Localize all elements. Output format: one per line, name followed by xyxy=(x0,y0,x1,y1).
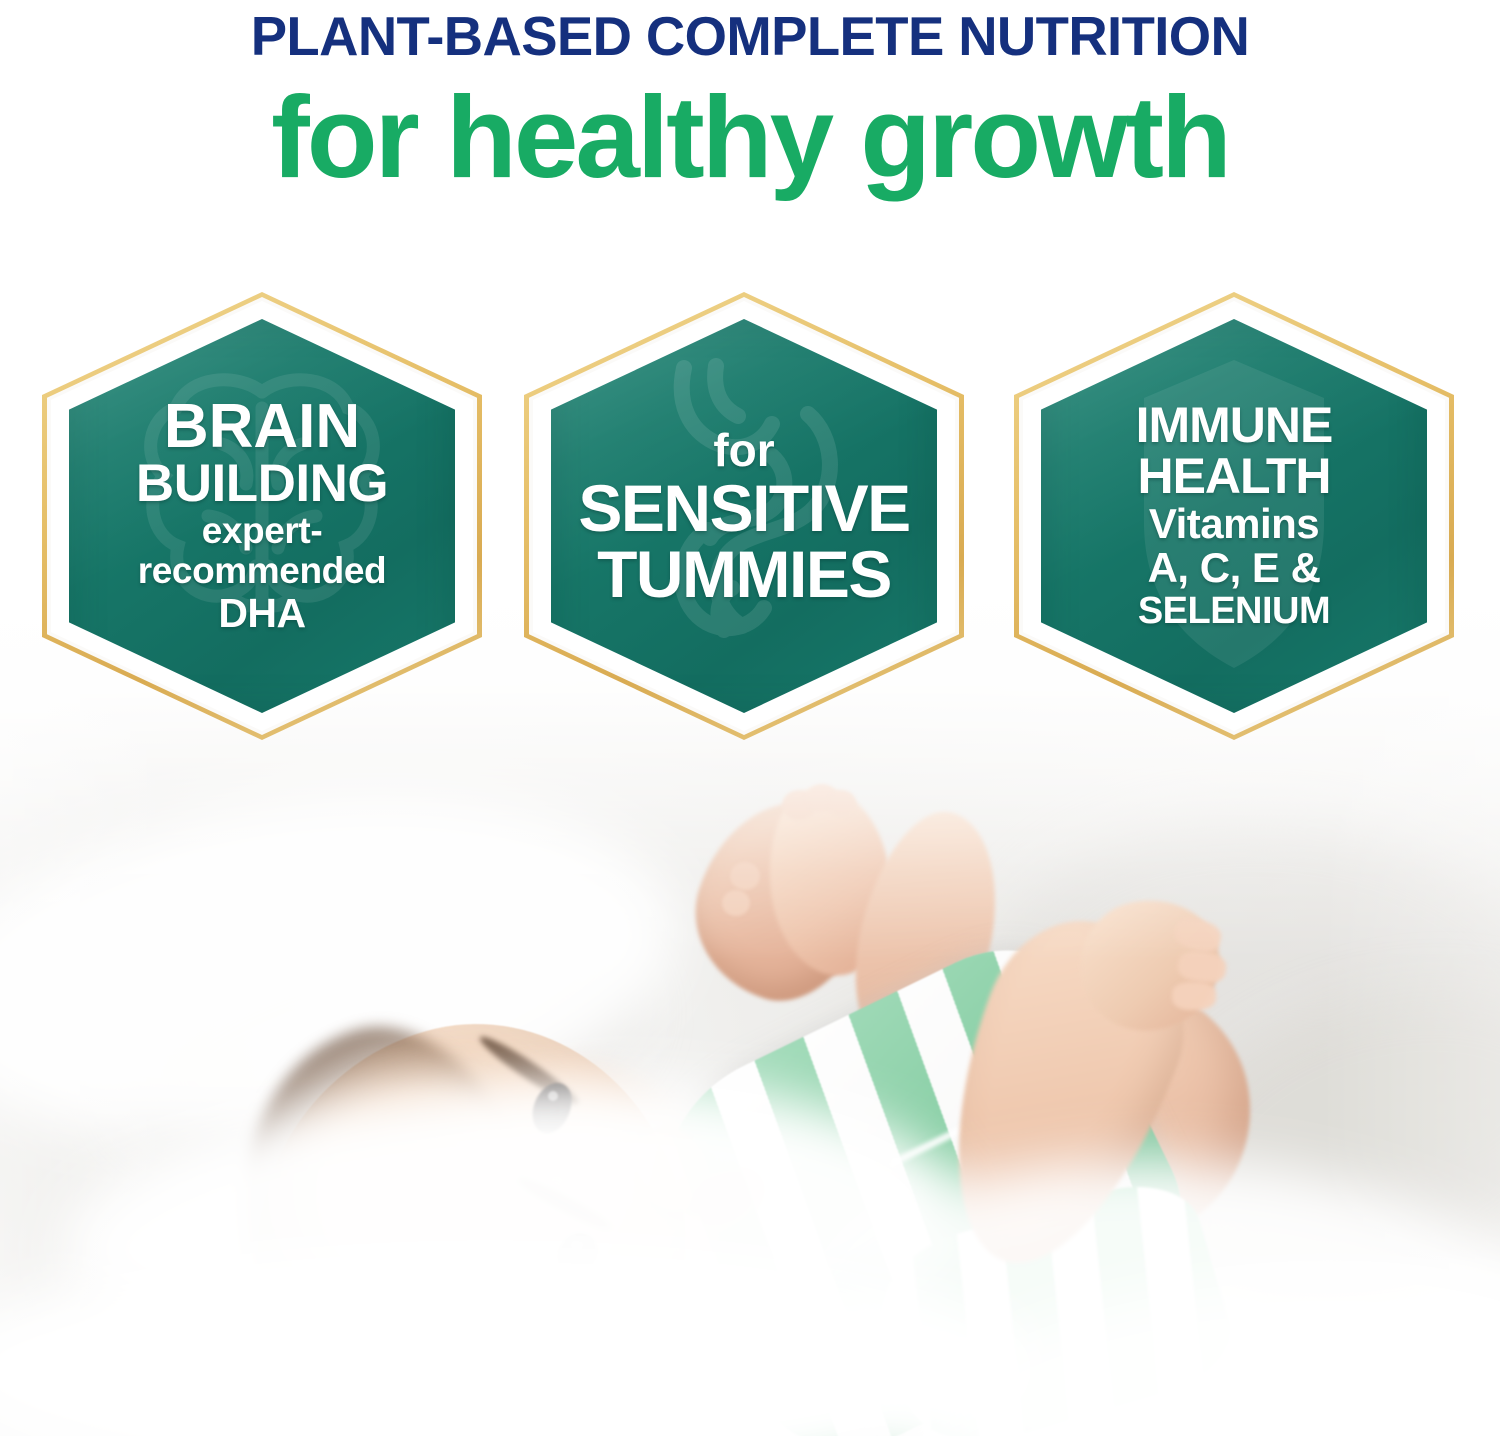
badge-sensitive-tummies-text: for SENSITIVE TUMMIES xyxy=(524,292,964,740)
baby-finger xyxy=(1172,982,1216,1010)
badge-line: BRAIN xyxy=(164,397,360,457)
headline-line-1: PLANT-BASED COMPLETE NUTRITION xyxy=(8,4,1493,68)
headline-line-2: for healthy growth xyxy=(0,74,1500,200)
badge-brain-building[interactable]: BRAIN BUILDING expert- recommended DHA xyxy=(42,292,482,740)
badge-line: SELENIUM xyxy=(1138,590,1330,632)
badge-line: A, C, E & xyxy=(1148,546,1321,590)
baby-toe xyxy=(722,890,750,916)
badge-line: expert- xyxy=(202,511,323,551)
badge-line: HEALTH xyxy=(1137,451,1330,502)
badge-line: SENSITIVE xyxy=(578,475,909,541)
badge-line: TUMMIES xyxy=(597,541,891,607)
badge-line: for xyxy=(713,425,774,475)
baby-toe xyxy=(828,790,856,816)
baby-toe xyxy=(730,862,760,890)
badge-line: recommended xyxy=(138,551,387,591)
badge-line: Vitamins xyxy=(1149,502,1319,546)
badge-line: IMMUNE xyxy=(1136,400,1333,451)
badge-brain-building-text: BRAIN BUILDING expert- recommended DHA xyxy=(42,292,482,740)
badge-line: BUILDING xyxy=(136,457,388,511)
badge-sensitive-tummies[interactable]: for SENSITIVE TUMMIES xyxy=(524,292,964,740)
headline: PLANT-BASED COMPLETE NUTRITION for healt… xyxy=(0,0,1500,200)
product-feature-panel: PLANT-BASED COMPLETE NUTRITION for healt… xyxy=(0,0,1500,1436)
badge-line: DHA xyxy=(218,591,305,635)
badge-immune-health[interactable]: IMMUNE HEALTH Vitamins A, C, E & SELENIU… xyxy=(1014,292,1454,740)
benefit-badge-row: BRAIN BUILDING expert- recommended DHA xyxy=(0,292,1500,742)
badge-immune-health-text: IMMUNE HEALTH Vitamins A, C, E & SELENIU… xyxy=(1014,292,1454,740)
